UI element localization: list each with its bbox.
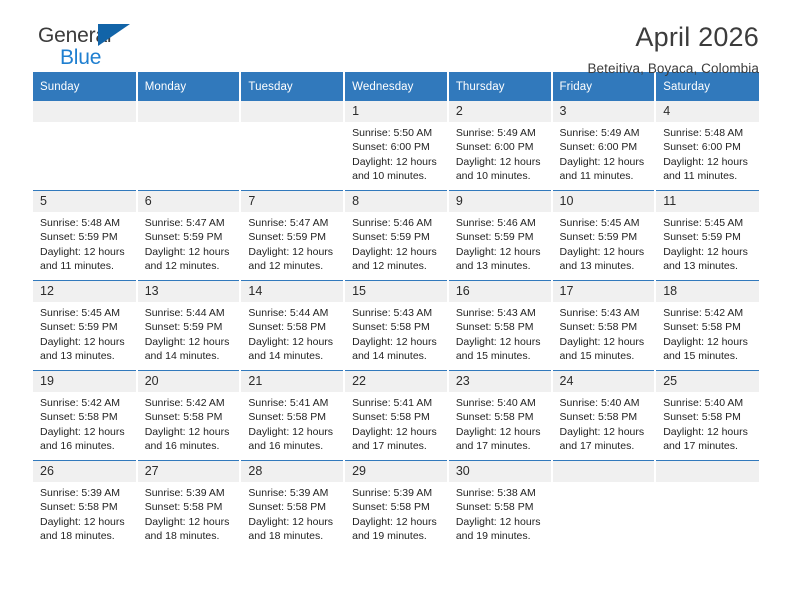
sunrise-text: Sunrise: 5:41 AM xyxy=(352,396,441,410)
sunrise-text: Sunrise: 5:38 AM xyxy=(456,486,545,500)
day-number xyxy=(241,101,343,122)
daylight-text: Daylight: 12 hours and 14 minutes. xyxy=(352,335,441,364)
sunset-text: Sunset: 5:58 PM xyxy=(456,500,545,514)
day-details: Sunrise: 5:43 AMSunset: 5:58 PMDaylight:… xyxy=(449,302,551,363)
calendar-day-cell[interactable]: 25Sunrise: 5:40 AMSunset: 5:58 PMDayligh… xyxy=(655,371,759,461)
day-number: 20 xyxy=(138,371,240,392)
sunset-text: Sunset: 6:00 PM xyxy=(456,140,545,154)
weekday-header-wednesday: Wednesday xyxy=(344,72,448,101)
day-number: 17 xyxy=(553,281,655,302)
daylight-text: Daylight: 12 hours and 16 minutes. xyxy=(40,425,130,454)
sunset-text: Sunset: 5:58 PM xyxy=(456,320,545,334)
sunset-text: Sunset: 6:00 PM xyxy=(560,140,649,154)
day-details: Sunrise: 5:48 AMSunset: 6:00 PMDaylight:… xyxy=(656,122,759,183)
sunrise-text: Sunrise: 5:49 AM xyxy=(456,126,545,140)
general-blue-logo: General Blue xyxy=(33,22,163,70)
daylight-text: Daylight: 12 hours and 18 minutes. xyxy=(145,515,234,544)
sunrise-text: Sunrise: 5:39 AM xyxy=(352,486,441,500)
day-number: 6 xyxy=(138,191,240,212)
day-number: 8 xyxy=(345,191,447,212)
triangle-icon xyxy=(98,24,130,46)
sunrise-text: Sunrise: 5:39 AM xyxy=(145,486,234,500)
calendar-day-cell[interactable]: 30Sunrise: 5:38 AMSunset: 5:58 PMDayligh… xyxy=(448,461,552,551)
day-details: Sunrise: 5:49 AMSunset: 6:00 PMDaylight:… xyxy=(553,122,655,183)
calendar-week-row: 1Sunrise: 5:50 AMSunset: 6:00 PMDaylight… xyxy=(33,101,759,191)
calendar-cell-empty xyxy=(655,461,759,551)
sunset-text: Sunset: 5:58 PM xyxy=(248,320,337,334)
sunset-text: Sunset: 5:58 PM xyxy=(352,410,441,424)
calendar-day-cell[interactable]: 15Sunrise: 5:43 AMSunset: 5:58 PMDayligh… xyxy=(344,281,448,371)
calendar-week-row: 5Sunrise: 5:48 AMSunset: 5:59 PMDaylight… xyxy=(33,191,759,281)
day-details: Sunrise: 5:47 AMSunset: 5:59 PMDaylight:… xyxy=(138,212,240,273)
weekday-header-monday: Monday xyxy=(137,72,241,101)
sunrise-text: Sunrise: 5:43 AM xyxy=(456,306,545,320)
daylight-text: Daylight: 12 hours and 12 minutes. xyxy=(352,245,441,274)
calendar-day-cell[interactable]: 28Sunrise: 5:39 AMSunset: 5:58 PMDayligh… xyxy=(240,461,344,551)
day-number xyxy=(33,101,136,122)
daylight-text: Daylight: 12 hours and 17 minutes. xyxy=(560,425,649,454)
calendar-day-cell[interactable]: 17Sunrise: 5:43 AMSunset: 5:58 PMDayligh… xyxy=(552,281,656,371)
sunrise-text: Sunrise: 5:47 AM xyxy=(145,216,234,230)
daylight-text: Daylight: 12 hours and 18 minutes. xyxy=(248,515,337,544)
logo-text-blue: Blue xyxy=(60,47,101,68)
weekday-header-tuesday: Tuesday xyxy=(240,72,344,101)
day-details: Sunrise: 5:47 AMSunset: 5:59 PMDaylight:… xyxy=(241,212,343,273)
sunset-text: Sunset: 5:59 PM xyxy=(456,230,545,244)
day-number: 29 xyxy=(345,461,447,482)
sunrise-text: Sunrise: 5:47 AM xyxy=(248,216,337,230)
weekday-header-row: Sunday Monday Tuesday Wednesday Thursday… xyxy=(33,72,759,101)
sunset-text: Sunset: 5:58 PM xyxy=(352,500,441,514)
day-number xyxy=(553,461,655,482)
calendar-cell-empty xyxy=(240,101,344,191)
day-number: 23 xyxy=(449,371,551,392)
sunrise-text: Sunrise: 5:44 AM xyxy=(145,306,234,320)
day-details: Sunrise: 5:40 AMSunset: 5:58 PMDaylight:… xyxy=(449,392,551,453)
daylight-text: Daylight: 12 hours and 15 minutes. xyxy=(663,335,753,364)
calendar-day-cell[interactable]: 4Sunrise: 5:48 AMSunset: 6:00 PMDaylight… xyxy=(655,101,759,191)
day-number: 3 xyxy=(553,101,655,122)
sunset-text: Sunset: 5:58 PM xyxy=(663,410,753,424)
calendar-day-cell[interactable]: 29Sunrise: 5:39 AMSunset: 5:58 PMDayligh… xyxy=(344,461,448,551)
day-details: Sunrise: 5:44 AMSunset: 5:58 PMDaylight:… xyxy=(241,302,343,363)
daylight-text: Daylight: 12 hours and 14 minutes. xyxy=(248,335,337,364)
day-details: Sunrise: 5:40 AMSunset: 5:58 PMDaylight:… xyxy=(553,392,655,453)
sunrise-text: Sunrise: 5:48 AM xyxy=(663,126,753,140)
sunset-text: Sunset: 6:00 PM xyxy=(663,140,753,154)
calendar-day-cell[interactable]: 12Sunrise: 5:45 AMSunset: 5:59 PMDayligh… xyxy=(33,281,137,371)
day-number: 12 xyxy=(33,281,136,302)
day-number: 9 xyxy=(449,191,551,212)
day-number: 4 xyxy=(656,101,759,122)
sunrise-text: Sunrise: 5:43 AM xyxy=(352,306,441,320)
calendar-week-row: 19Sunrise: 5:42 AMSunset: 5:58 PMDayligh… xyxy=(33,371,759,461)
sunrise-text: Sunrise: 5:40 AM xyxy=(663,396,753,410)
daylight-text: Daylight: 12 hours and 19 minutes. xyxy=(456,515,545,544)
sunrise-text: Sunrise: 5:39 AM xyxy=(40,486,130,500)
day-number: 18 xyxy=(656,281,759,302)
daylight-text: Daylight: 12 hours and 10 minutes. xyxy=(456,155,545,184)
day-number: 13 xyxy=(138,281,240,302)
sunrise-text: Sunrise: 5:48 AM xyxy=(40,216,130,230)
day-details: Sunrise: 5:39 AMSunset: 5:58 PMDaylight:… xyxy=(241,482,343,543)
calendar-day-cell[interactable]: 11Sunrise: 5:45 AMSunset: 5:59 PMDayligh… xyxy=(655,191,759,281)
sunset-text: Sunset: 5:58 PM xyxy=(40,500,130,514)
daylight-text: Daylight: 12 hours and 17 minutes. xyxy=(456,425,545,454)
sunset-text: Sunset: 5:58 PM xyxy=(352,320,441,334)
day-details: Sunrise: 5:48 AMSunset: 5:59 PMDaylight:… xyxy=(33,212,136,273)
day-details: Sunrise: 5:39 AMSunset: 5:58 PMDaylight:… xyxy=(345,482,447,543)
day-number: 2 xyxy=(449,101,551,122)
sunset-text: Sunset: 5:59 PM xyxy=(40,320,130,334)
day-details: Sunrise: 5:39 AMSunset: 5:58 PMDaylight:… xyxy=(138,482,240,543)
daylight-text: Daylight: 12 hours and 16 minutes. xyxy=(145,425,234,454)
day-details: Sunrise: 5:43 AMSunset: 5:58 PMDaylight:… xyxy=(345,302,447,363)
daylight-text: Daylight: 12 hours and 17 minutes. xyxy=(663,425,753,454)
day-details: Sunrise: 5:39 AMSunset: 5:58 PMDaylight:… xyxy=(33,482,136,543)
calendar-week-row: 26Sunrise: 5:39 AMSunset: 5:58 PMDayligh… xyxy=(33,461,759,551)
daylight-text: Daylight: 12 hours and 16 minutes. xyxy=(248,425,337,454)
daylight-text: Daylight: 12 hours and 13 minutes. xyxy=(456,245,545,274)
sunset-text: Sunset: 5:59 PM xyxy=(145,230,234,244)
daylight-text: Daylight: 12 hours and 10 minutes. xyxy=(352,155,441,184)
day-details: Sunrise: 5:43 AMSunset: 5:58 PMDaylight:… xyxy=(553,302,655,363)
day-number: 1 xyxy=(345,101,447,122)
weekday-header-saturday: Saturday xyxy=(655,72,759,101)
calendar-day-cell[interactable]: 8Sunrise: 5:46 AMSunset: 5:59 PMDaylight… xyxy=(344,191,448,281)
page-header: General Blue April 2026 Beteitiva, Boyac… xyxy=(33,0,759,72)
page-title: April 2026 xyxy=(587,23,759,52)
day-details: Sunrise: 5:45 AMSunset: 5:59 PMDaylight:… xyxy=(656,212,759,273)
calendar-day-cell[interactable]: 3Sunrise: 5:49 AMSunset: 6:00 PMDaylight… xyxy=(552,101,656,191)
day-details: Sunrise: 5:46 AMSunset: 5:59 PMDaylight:… xyxy=(449,212,551,273)
day-number: 24 xyxy=(553,371,655,392)
day-details: Sunrise: 5:41 AMSunset: 5:58 PMDaylight:… xyxy=(345,392,447,453)
weekday-header-friday: Friday xyxy=(552,72,656,101)
day-number xyxy=(656,461,759,482)
day-number: 15 xyxy=(345,281,447,302)
day-number: 26 xyxy=(33,461,136,482)
sunset-text: Sunset: 6:00 PM xyxy=(352,140,441,154)
sunrise-text: Sunrise: 5:40 AM xyxy=(456,396,545,410)
day-details: Sunrise: 5:42 AMSunset: 5:58 PMDaylight:… xyxy=(138,392,240,453)
day-number: 21 xyxy=(241,371,343,392)
calendar-page: General Blue April 2026 Beteitiva, Boyac… xyxy=(0,0,792,612)
day-details: Sunrise: 5:46 AMSunset: 5:59 PMDaylight:… xyxy=(345,212,447,273)
daylight-text: Daylight: 12 hours and 11 minutes. xyxy=(663,155,753,184)
day-number: 14 xyxy=(241,281,343,302)
calendar-day-cell[interactable]: 10Sunrise: 5:45 AMSunset: 5:59 PMDayligh… xyxy=(552,191,656,281)
sunset-text: Sunset: 5:58 PM xyxy=(145,410,234,424)
daylight-text: Daylight: 12 hours and 13 minutes. xyxy=(663,245,753,274)
sunrise-text: Sunrise: 5:42 AM xyxy=(663,306,753,320)
calendar-body: 1Sunrise: 5:50 AMSunset: 6:00 PMDaylight… xyxy=(33,101,759,550)
sunrise-text: Sunrise: 5:50 AM xyxy=(352,126,441,140)
daylight-text: Daylight: 12 hours and 15 minutes. xyxy=(456,335,545,364)
sunrise-text: Sunrise: 5:40 AM xyxy=(560,396,649,410)
calendar-table: Sunday Monday Tuesday Wednesday Thursday… xyxy=(33,72,759,550)
day-number: 28 xyxy=(241,461,343,482)
calendar-day-cell[interactable]: 23Sunrise: 5:40 AMSunset: 5:58 PMDayligh… xyxy=(448,371,552,461)
day-details: Sunrise: 5:38 AMSunset: 5:58 PMDaylight:… xyxy=(449,482,551,543)
day-number: 27 xyxy=(138,461,240,482)
calendar-day-cell[interactable]: 7Sunrise: 5:47 AMSunset: 5:59 PMDaylight… xyxy=(240,191,344,281)
sunrise-text: Sunrise: 5:46 AM xyxy=(456,216,545,230)
day-details: Sunrise: 5:42 AMSunset: 5:58 PMDaylight:… xyxy=(33,392,136,453)
daylight-text: Daylight: 12 hours and 17 minutes. xyxy=(352,425,441,454)
calendar-day-cell[interactable]: 13Sunrise: 5:44 AMSunset: 5:59 PMDayligh… xyxy=(137,281,241,371)
sunrise-text: Sunrise: 5:45 AM xyxy=(40,306,130,320)
day-number xyxy=(138,101,240,122)
sunset-text: Sunset: 5:58 PM xyxy=(248,500,337,514)
daylight-text: Daylight: 12 hours and 13 minutes. xyxy=(40,335,130,364)
sunrise-text: Sunrise: 5:44 AM xyxy=(248,306,337,320)
day-number: 16 xyxy=(449,281,551,302)
weekday-header-thursday: Thursday xyxy=(448,72,552,101)
sunset-text: Sunset: 5:58 PM xyxy=(560,410,649,424)
day-details: Sunrise: 5:44 AMSunset: 5:59 PMDaylight:… xyxy=(138,302,240,363)
day-number: 30 xyxy=(449,461,551,482)
daylight-text: Daylight: 12 hours and 19 minutes. xyxy=(352,515,441,544)
day-number: 25 xyxy=(656,371,759,392)
daylight-text: Daylight: 12 hours and 13 minutes. xyxy=(560,245,649,274)
calendar-day-cell[interactable]: 14Sunrise: 5:44 AMSunset: 5:58 PMDayligh… xyxy=(240,281,344,371)
daylight-text: Daylight: 12 hours and 12 minutes. xyxy=(145,245,234,274)
day-number: 7 xyxy=(241,191,343,212)
daylight-text: Daylight: 12 hours and 11 minutes. xyxy=(40,245,130,274)
sunset-text: Sunset: 5:59 PM xyxy=(663,230,753,244)
calendar-week-row: 12Sunrise: 5:45 AMSunset: 5:59 PMDayligh… xyxy=(33,281,759,371)
weekday-header-sunday: Sunday xyxy=(33,72,137,101)
day-details: Sunrise: 5:49 AMSunset: 6:00 PMDaylight:… xyxy=(449,122,551,183)
daylight-text: Daylight: 12 hours and 18 minutes. xyxy=(40,515,130,544)
calendar-day-cell[interactable]: 21Sunrise: 5:41 AMSunset: 5:58 PMDayligh… xyxy=(240,371,344,461)
sunrise-text: Sunrise: 5:39 AM xyxy=(248,486,337,500)
sunset-text: Sunset: 5:58 PM xyxy=(248,410,337,424)
title-block: April 2026 Beteitiva, Boyaca, Colombia xyxy=(587,22,759,76)
sunrise-text: Sunrise: 5:49 AM xyxy=(560,126,649,140)
sunset-text: Sunset: 5:59 PM xyxy=(40,230,130,244)
calendar-cell-empty xyxy=(137,101,241,191)
day-details: Sunrise: 5:40 AMSunset: 5:58 PMDaylight:… xyxy=(656,392,759,453)
sunset-text: Sunset: 5:58 PM xyxy=(456,410,545,424)
day-number: 10 xyxy=(553,191,655,212)
calendar-cell-empty xyxy=(33,101,137,191)
daylight-text: Daylight: 12 hours and 15 minutes. xyxy=(560,335,649,364)
daylight-text: Daylight: 12 hours and 11 minutes. xyxy=(560,155,649,184)
calendar-day-cell[interactable]: 9Sunrise: 5:46 AMSunset: 5:59 PMDaylight… xyxy=(448,191,552,281)
sunrise-text: Sunrise: 5:42 AM xyxy=(40,396,130,410)
sunset-text: Sunset: 5:58 PM xyxy=(560,320,649,334)
sunset-text: Sunset: 5:59 PM xyxy=(145,320,234,334)
sunset-text: Sunset: 5:58 PM xyxy=(40,410,130,424)
calendar-day-cell[interactable]: 6Sunrise: 5:47 AMSunset: 5:59 PMDaylight… xyxy=(137,191,241,281)
calendar-day-cell[interactable]: 26Sunrise: 5:39 AMSunset: 5:58 PMDayligh… xyxy=(33,461,137,551)
calendar-day-cell[interactable]: 5Sunrise: 5:48 AMSunset: 5:59 PMDaylight… xyxy=(33,191,137,281)
calendar-day-cell[interactable]: 27Sunrise: 5:39 AMSunset: 5:58 PMDayligh… xyxy=(137,461,241,551)
day-details: Sunrise: 5:45 AMSunset: 5:59 PMDaylight:… xyxy=(553,212,655,273)
sunrise-text: Sunrise: 5:45 AM xyxy=(663,216,753,230)
sunrise-text: Sunrise: 5:43 AM xyxy=(560,306,649,320)
calendar-day-cell[interactable]: 19Sunrise: 5:42 AMSunset: 5:58 PMDayligh… xyxy=(33,371,137,461)
day-details: Sunrise: 5:45 AMSunset: 5:59 PMDaylight:… xyxy=(33,302,136,363)
day-number: 19 xyxy=(33,371,136,392)
calendar-day-cell[interactable]: 1Sunrise: 5:50 AMSunset: 6:00 PMDaylight… xyxy=(344,101,448,191)
sunset-text: Sunset: 5:58 PM xyxy=(663,320,753,334)
day-number: 11 xyxy=(656,191,759,212)
calendar-cell-empty xyxy=(552,461,656,551)
sunset-text: Sunset: 5:59 PM xyxy=(352,230,441,244)
calendar-day-cell[interactable]: 22Sunrise: 5:41 AMSunset: 5:58 PMDayligh… xyxy=(344,371,448,461)
daylight-text: Daylight: 12 hours and 12 minutes. xyxy=(248,245,337,274)
sunrise-text: Sunrise: 5:45 AM xyxy=(560,216,649,230)
calendar-day-cell[interactable]: 18Sunrise: 5:42 AMSunset: 5:58 PMDayligh… xyxy=(655,281,759,371)
sunrise-text: Sunrise: 5:41 AM xyxy=(248,396,337,410)
location-subtitle: Beteitiva, Boyaca, Colombia xyxy=(587,61,759,76)
sunset-text: Sunset: 5:59 PM xyxy=(248,230,337,244)
calendar-day-cell[interactable]: 16Sunrise: 5:43 AMSunset: 5:58 PMDayligh… xyxy=(448,281,552,371)
calendar-day-cell[interactable]: 2Sunrise: 5:49 AMSunset: 6:00 PMDaylight… xyxy=(448,101,552,191)
sunrise-text: Sunrise: 5:46 AM xyxy=(352,216,441,230)
day-details: Sunrise: 5:42 AMSunset: 5:58 PMDaylight:… xyxy=(656,302,759,363)
calendar-day-cell[interactable]: 20Sunrise: 5:42 AMSunset: 5:58 PMDayligh… xyxy=(137,371,241,461)
day-number: 22 xyxy=(345,371,447,392)
sunset-text: Sunset: 5:58 PM xyxy=(145,500,234,514)
sunrise-text: Sunrise: 5:42 AM xyxy=(145,396,234,410)
day-details: Sunrise: 5:50 AMSunset: 6:00 PMDaylight:… xyxy=(345,122,447,183)
daylight-text: Daylight: 12 hours and 14 minutes. xyxy=(145,335,234,364)
calendar-day-cell[interactable]: 24Sunrise: 5:40 AMSunset: 5:58 PMDayligh… xyxy=(552,371,656,461)
day-details: Sunrise: 5:41 AMSunset: 5:58 PMDaylight:… xyxy=(241,392,343,453)
sunset-text: Sunset: 5:59 PM xyxy=(560,230,649,244)
day-number: 5 xyxy=(33,191,136,212)
